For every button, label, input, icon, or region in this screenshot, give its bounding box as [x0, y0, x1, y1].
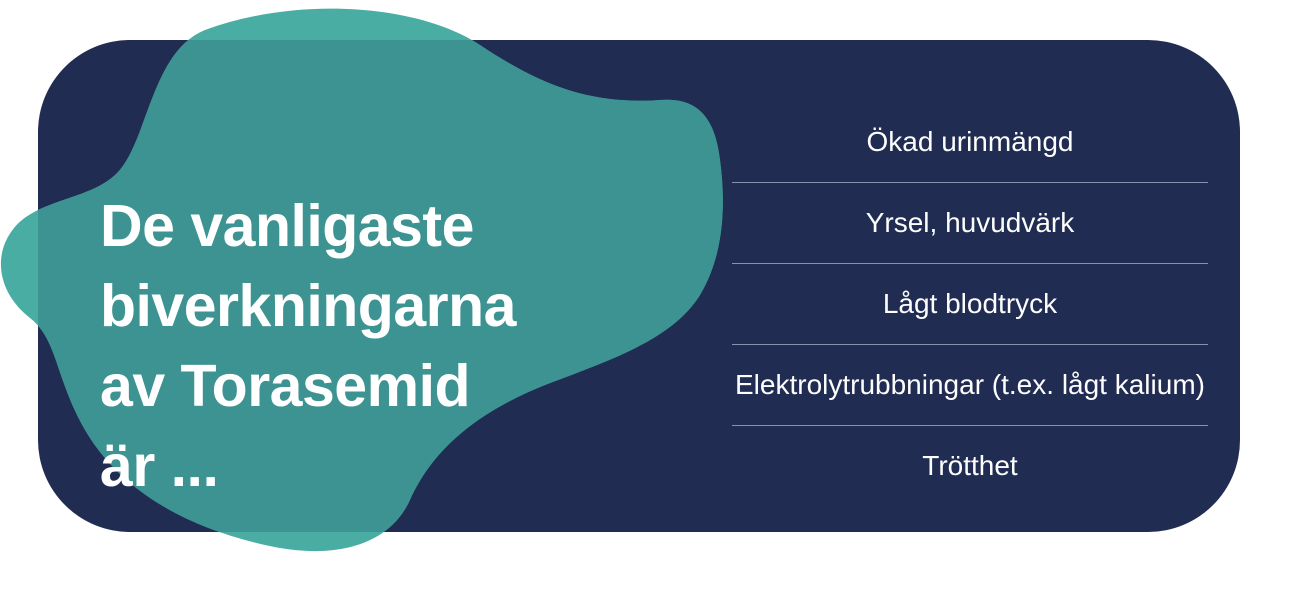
- side-effects-list: Ökad urinmängd Yrsel, huvudvärk Lågt blo…: [700, 102, 1240, 506]
- list-item: Lågt blodtryck: [700, 264, 1240, 344]
- list-item: Yrsel, huvudvärk: [700, 183, 1240, 263]
- page-title: De vanligaste biverkningarna av Torasemi…: [100, 186, 700, 506]
- infographic-card: De vanligaste biverkningarna av Torasemi…: [0, 0, 1300, 600]
- list-item: Trötthet: [700, 426, 1240, 506]
- headline-line-3: av Torasemid: [100, 346, 700, 426]
- list-item: Ökad urinmängd: [700, 102, 1240, 182]
- headline-line-2: biverkningarna: [100, 266, 700, 346]
- headline-line-4: är ...: [100, 426, 700, 506]
- headline-line-1: De vanligaste: [100, 186, 700, 266]
- list-item: Elektrolytrubbningar (t.ex. lågt kalium): [700, 345, 1240, 425]
